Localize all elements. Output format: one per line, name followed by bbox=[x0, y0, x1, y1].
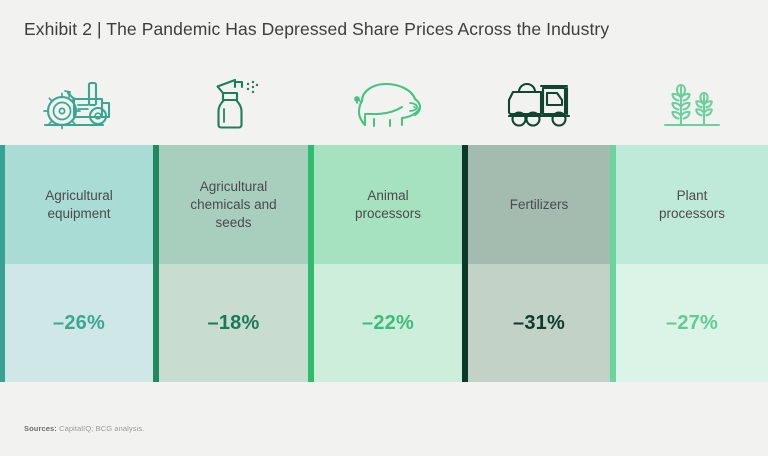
share-price-change-value: –26% bbox=[53, 312, 105, 335]
spray-bottle-icon bbox=[159, 58, 308, 145]
share-price-change-value: –27% bbox=[666, 312, 718, 335]
wheat-icon bbox=[616, 58, 768, 145]
sources-note: Sources: CapitalIQ; BCG analysis. bbox=[24, 424, 144, 433]
icon-row bbox=[0, 58, 768, 145]
value-cell: –31% bbox=[468, 264, 610, 382]
category-cell: Fertilizers bbox=[468, 145, 610, 264]
category-label: Plantprocessors bbox=[651, 187, 733, 223]
exhibit-chart: AgriculturalequipmentAgriculturalchemica… bbox=[0, 58, 768, 388]
category-label: Animalprocessors bbox=[347, 187, 429, 223]
share-price-change-value: –22% bbox=[362, 312, 414, 335]
value-cell: –27% bbox=[616, 264, 768, 382]
sources-label: Sources: bbox=[24, 424, 57, 433]
header-bar: Exhibit 2 | The Pandemic Has Depressed S… bbox=[0, 0, 768, 58]
value-cell: –18% bbox=[159, 264, 308, 382]
dump-truck-icon bbox=[468, 58, 610, 145]
share-price-change-value: –31% bbox=[513, 312, 565, 335]
category-cell: Plantprocessors bbox=[616, 145, 768, 264]
category-label: Fertilizers bbox=[502, 196, 577, 214]
value-cell: –26% bbox=[5, 264, 153, 382]
category-label: Agriculturalchemicals andseeds bbox=[182, 178, 284, 232]
category-label: Agriculturalequipment bbox=[37, 187, 121, 223]
pig-icon bbox=[314, 58, 462, 145]
value-band: –26%–18%–22%–31%–27% bbox=[0, 264, 768, 382]
sources-text: CapitalIQ; BCG analysis. bbox=[57, 424, 145, 433]
category-cell: Agriculturalequipment bbox=[5, 145, 153, 264]
page-title: Exhibit 2 | The Pandemic Has Depressed S… bbox=[24, 19, 609, 40]
value-cell: –22% bbox=[314, 264, 462, 382]
category-cell: Animalprocessors bbox=[314, 145, 462, 264]
category-cell: Agriculturalchemicals andseeds bbox=[159, 145, 308, 264]
tractor-icon bbox=[5, 58, 153, 145]
category-label-band: AgriculturalequipmentAgriculturalchemica… bbox=[0, 145, 768, 264]
share-price-change-value: –18% bbox=[208, 312, 260, 335]
